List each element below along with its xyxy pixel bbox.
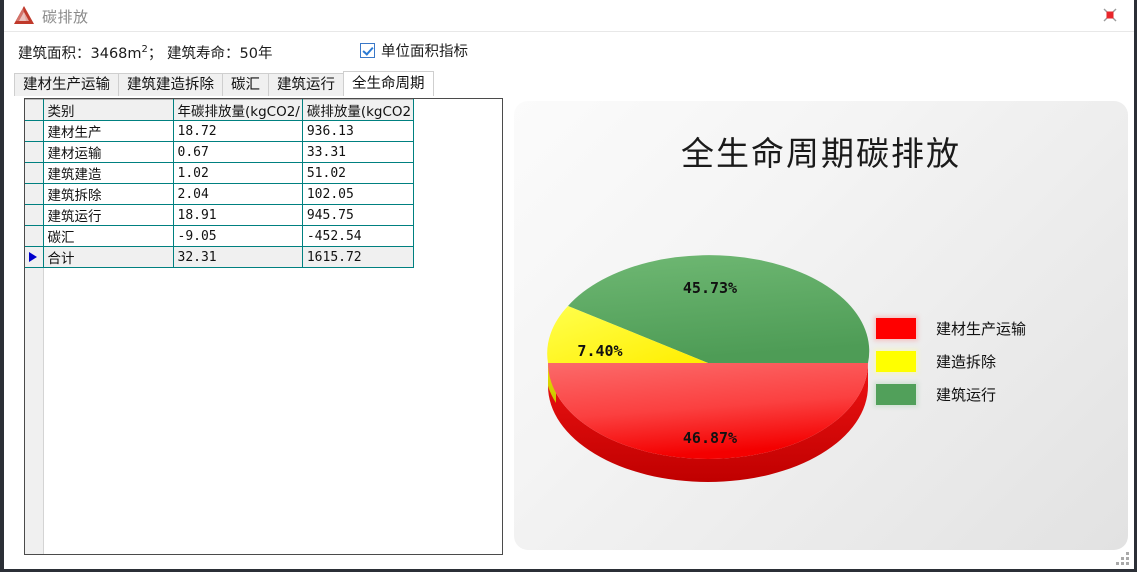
cell-category: 建筑运行 bbox=[43, 205, 173, 226]
unit-metric-label: 单位面积指标 bbox=[381, 40, 468, 61]
application-window: 碳排放 建筑面积：3468m2； 建筑寿命：50年 单位面积指标 建材生产运输 … bbox=[0, 0, 1137, 572]
table-row[interactable]: 建筑拆除 2.04 102.05 bbox=[25, 184, 414, 205]
legend-label: 建筑运行 bbox=[936, 384, 996, 405]
row-indicator-triangle-icon bbox=[25, 247, 43, 268]
autocad-triangle-icon bbox=[14, 5, 34, 25]
checkmark-icon[interactable] bbox=[360, 43, 375, 58]
cell-category: 建材生产 bbox=[43, 121, 173, 142]
cell-category: 碳汇 bbox=[43, 226, 173, 247]
cell-annual: 0.67 bbox=[173, 142, 302, 163]
cell-total: 51.02 bbox=[302, 163, 413, 184]
table-row-selected[interactable]: 合计 32.31 1615.72 bbox=[25, 247, 414, 268]
emissions-table: 类别 年碳排放量(kgCO2/ 碳排放量(kgCO2 建材生产 18.72 93… bbox=[25, 99, 414, 268]
cell-category: 合计 bbox=[43, 247, 173, 268]
cell-category: 建材运输 bbox=[43, 142, 173, 163]
building-area-label: 建筑面积： bbox=[18, 46, 91, 62]
tab-building-operation[interactable]: 建筑运行 bbox=[268, 73, 344, 96]
table-row[interactable]: 建筑建造 1.02 51.02 bbox=[25, 163, 414, 184]
table-row[interactable]: 建材运输 0.67 33.31 bbox=[25, 142, 414, 163]
lifespan-value: 50年 bbox=[240, 46, 273, 62]
cell-annual: 18.91 bbox=[173, 205, 302, 226]
cell-category: 建筑拆除 bbox=[43, 184, 173, 205]
cell-total: 33.31 bbox=[302, 142, 413, 163]
tab-construction-demolition[interactable]: 建筑建造拆除 bbox=[118, 73, 223, 96]
unit-metric-checkbox-group[interactable]: 单位面积指标 bbox=[360, 40, 468, 61]
tab-carbon-sink[interactable]: 碳汇 bbox=[222, 73, 269, 96]
resize-grip[interactable] bbox=[1116, 552, 1130, 566]
cell-annual: -9.05 bbox=[173, 226, 302, 247]
column-header-annual-emission[interactable]: 年碳排放量(kgCO2/ bbox=[173, 100, 302, 121]
info-separator: ； bbox=[148, 46, 163, 62]
tab-strip: 建材生产运输 建筑建造拆除 碳汇 建筑运行 全生命周期 bbox=[14, 72, 433, 96]
table-row[interactable]: 建筑运行 18.91 945.75 bbox=[25, 205, 414, 226]
column-header-total-emission[interactable]: 碳排放量(kgCO2 bbox=[302, 100, 413, 121]
tab-full-life-cycle[interactable]: 全生命周期 bbox=[343, 71, 434, 96]
tab-material-production-transport[interactable]: 建材生产运输 bbox=[14, 73, 119, 96]
table-row[interactable]: 建材生产 18.72 936.13 bbox=[25, 121, 414, 142]
table-row[interactable]: 碳汇 -9.05 -452.54 bbox=[25, 226, 414, 247]
chart-panel: 全生命周期碳排放 bbox=[514, 101, 1128, 550]
pie-label-red: 46.87% bbox=[683, 429, 737, 447]
column-header-category[interactable]: 类别 bbox=[43, 100, 173, 121]
cell-total: 945.75 bbox=[302, 205, 413, 226]
legend-label: 建材生产运输 bbox=[936, 318, 1026, 339]
window-title: 碳排放 bbox=[42, 6, 89, 27]
legend-swatch-red bbox=[876, 318, 916, 339]
building-area-value: 3468 bbox=[91, 46, 128, 62]
cell-total: -452.54 bbox=[302, 226, 413, 247]
legend-swatch-yellow bbox=[876, 351, 916, 372]
row-indicator bbox=[25, 205, 43, 226]
row-indicator bbox=[25, 121, 43, 142]
data-table-panel: 类别 年碳排放量(kgCO2/ 碳排放量(kgCO2 建材生产 18.72 93… bbox=[24, 98, 503, 555]
cell-annual: 1.02 bbox=[173, 163, 302, 184]
pie-label-yellow: 7.40% bbox=[577, 342, 622, 360]
cell-total: 936.13 bbox=[302, 121, 413, 142]
legend-label: 建造拆除 bbox=[936, 351, 996, 372]
table-header-row: 类别 年碳排放量(kgCO2/ 碳排放量(kgCO2 bbox=[25, 100, 414, 121]
cell-annual: 2.04 bbox=[173, 184, 302, 205]
pie-label-green: 45.73% bbox=[683, 279, 737, 297]
close-icon[interactable] bbox=[1097, 2, 1123, 28]
row-indicator-header bbox=[25, 100, 43, 121]
chart-legend: 建材生产运输 建造拆除 建筑运行 bbox=[876, 312, 1106, 411]
row-indicator bbox=[25, 184, 43, 205]
row-indicator bbox=[25, 142, 43, 163]
cell-annual: 32.31 bbox=[173, 247, 302, 268]
legend-item-building-operation[interactable]: 建筑运行 bbox=[876, 378, 1106, 411]
cell-total: 102.05 bbox=[302, 184, 413, 205]
title-bar: 碳排放 bbox=[4, 0, 1134, 32]
cell-annual: 18.72 bbox=[173, 121, 302, 142]
chart-title: 全生命周期碳排放 bbox=[514, 127, 1128, 175]
pie-chart: 45.73% 7.40% 46.87% bbox=[538, 243, 878, 493]
legend-item-material-production-transport[interactable]: 建材生产运输 bbox=[876, 312, 1106, 345]
row-indicator bbox=[25, 163, 43, 184]
legend-item-construction-demolition[interactable]: 建造拆除 bbox=[876, 345, 1106, 378]
building-info-text: 建筑面积：3468m2； 建筑寿命：50年 bbox=[18, 42, 272, 63]
cell-category: 建筑建造 bbox=[43, 163, 173, 184]
info-bar: 建筑面积：3468m2； 建筑寿命：50年 单位面积指标 bbox=[4, 32, 1134, 68]
lifespan-label: 建筑寿命： bbox=[167, 46, 240, 62]
cell-total: 1615.72 bbox=[302, 247, 413, 268]
building-area-unit: m bbox=[127, 46, 141, 62]
row-indicator bbox=[25, 226, 43, 247]
legend-swatch-green bbox=[876, 384, 916, 405]
